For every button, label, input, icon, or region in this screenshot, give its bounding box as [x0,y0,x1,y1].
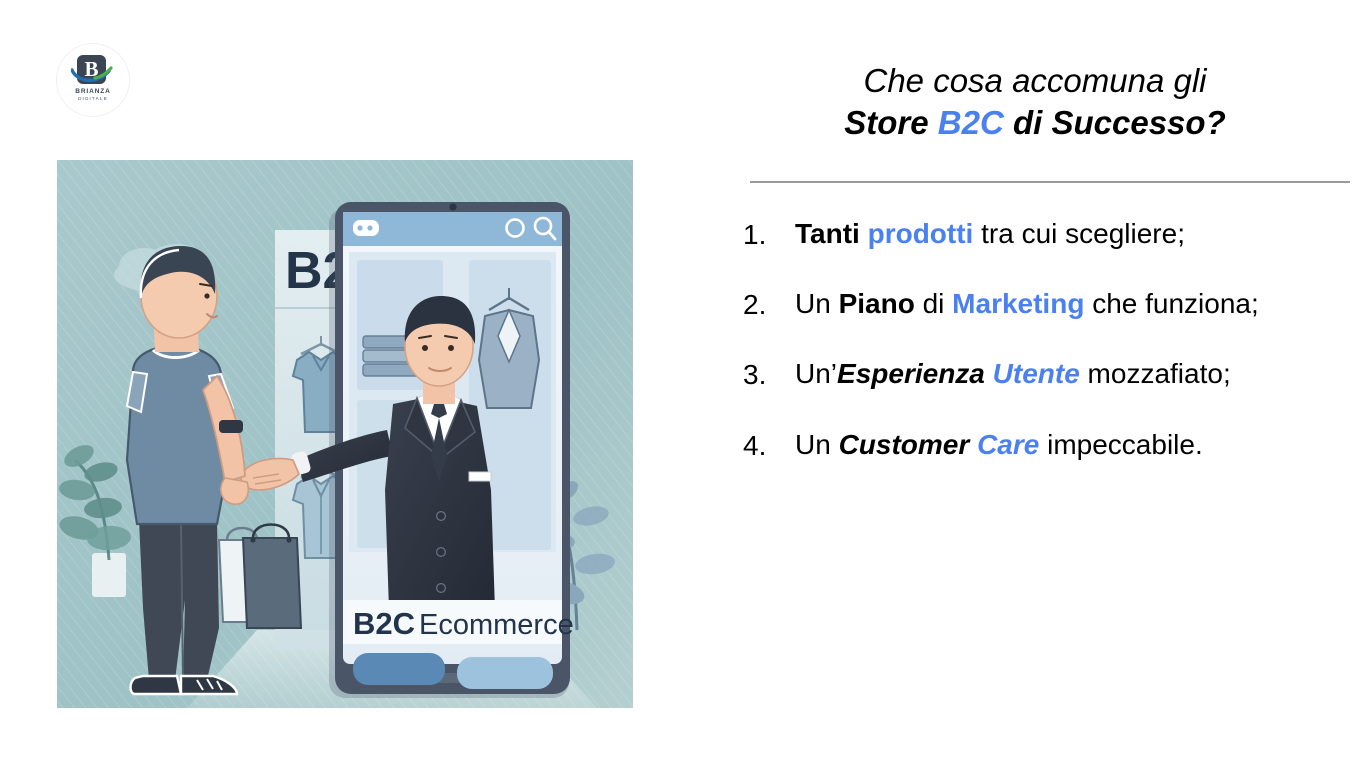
illustration-canvas: B2C [57,160,633,708]
list-item-segment: Un [795,288,839,319]
list-item-number: 3. [743,355,795,393]
list-item-segment: Tanti [795,218,868,249]
cta-secondary-button[interactable] [457,657,553,689]
title-line-2-before: Store [844,104,938,141]
menu-icon[interactable] [353,220,379,236]
list-item-segment: prodotti [868,218,974,249]
list-item-segment: Un’ [795,358,837,389]
list-item-segment: che funziona; [1084,288,1258,319]
list-item-text: Un’Esperienza Utente mozzafiato; [795,355,1343,393]
list-item-number: 1. [743,215,795,253]
list-item-segment: Esperienza [837,358,985,389]
success-factors-list: 1.Tanti prodotti tra cui scegliere;2.Un … [743,215,1343,496]
list-item-segment: Marketing [952,288,1084,319]
logo-subtitle-text: DIGITALE [57,96,129,101]
list-item-segment: di [915,288,952,319]
title-line-2-accent: B2C [938,104,1004,141]
list-item: 4.Un Customer Care impeccabile. [743,426,1343,464]
cta-primary-button[interactable] [353,653,445,685]
list-item-segment: Un [795,429,839,460]
content-panel: Che cosa accomuna gli Store B2C di Succe… [725,60,1345,740]
list-item-segment [985,358,993,389]
b2c-ecommerce-illustration: B2C [57,160,633,708]
logo-name-text: BRIANZA [57,88,129,95]
list-item-segment: mozzafiato; [1080,358,1231,389]
list-item-segment: Customer [839,429,970,460]
logo-swoosh-icon [71,66,113,85]
brand-logo: B BRIANZA DIGITALE [57,44,129,116]
list-item-text: Un Piano di Marketing che funziona; [795,285,1343,323]
title-line-2: Store B2C di Successo? [735,102,1335,144]
page-title: Che cosa accomuna gli Store B2C di Succe… [735,60,1335,144]
list-item: 2.Un Piano di Marketing che funziona; [743,285,1343,323]
list-item-segment: Utente [993,358,1080,389]
list-item-text: Tanti prodotti tra cui scegliere; [795,215,1343,253]
title-line-1: Che cosa accomuna gli [735,60,1335,102]
list-item-segment: impeccabile. [1039,429,1202,460]
screen-title-rest: Ecommerce [419,609,574,641]
list-item-number: 4. [743,426,795,464]
list-item-segment [969,429,977,460]
shopping-bags [219,525,301,629]
tablet-camera-icon [449,203,456,210]
title-line-2-after: di Successo? [1004,104,1226,141]
screen-title-bold: B2C [353,606,415,641]
list-item-segment: Care [977,429,1039,460]
list-item-number: 2. [743,285,795,323]
list-item-segment: tra cui scegliere; [973,218,1185,249]
list-item-segment: Piano [839,288,915,319]
list-item: 3.Un’Esperienza Utente mozzafiato; [743,355,1343,393]
wristwatch-icon [219,420,243,433]
list-item-text: Un Customer Care impeccabile. [795,426,1343,464]
title-divider [750,181,1350,183]
list-item: 1.Tanti prodotti tra cui scegliere; [743,215,1343,253]
shopper-shoes [131,676,238,694]
